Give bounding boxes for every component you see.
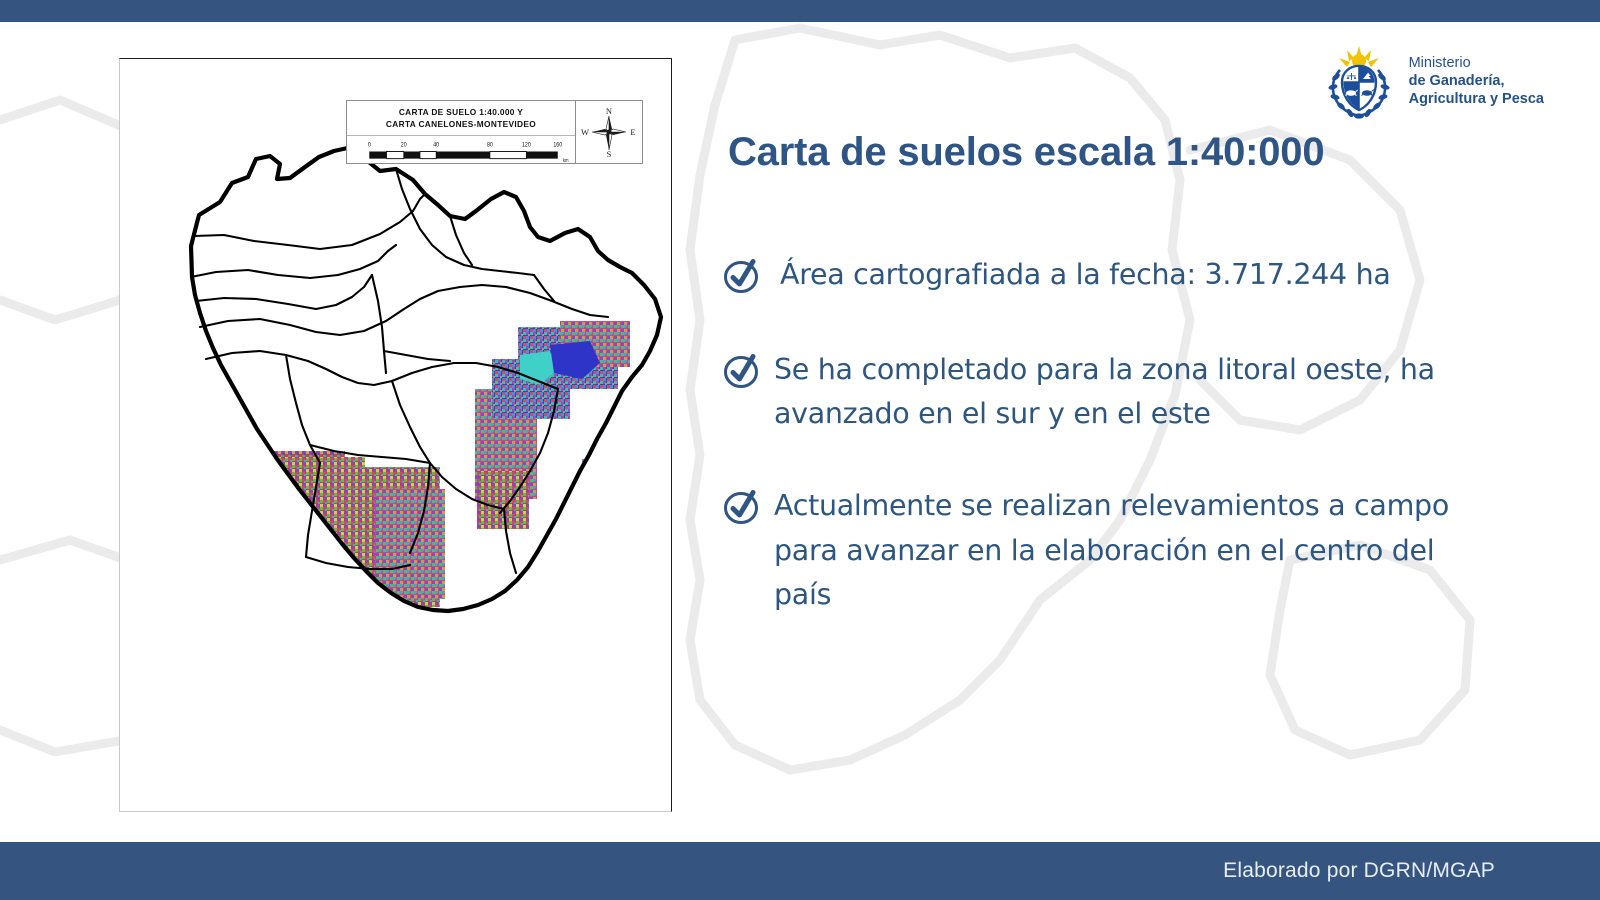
scale-tick-40: 40 [433,142,439,148]
legend-title-line-1: CARTA DE SUELO 1:40.000 Y [399,106,523,118]
check-circle-icon [722,257,760,300]
footer-credit: Elaborado por DGRN/MGAP [1223,842,1495,900]
ministry-logo-text: Ministerio de Ganadería, Agricultura y P… [1409,55,1544,108]
compass-west-label: W [581,127,589,137]
scale-tick-20: 20 [401,142,407,148]
ministry-logo: Ministerio de Ganadería, Agricultura y P… [1321,44,1544,120]
scale-tick-80: 80 [487,142,493,148]
uruguay-coat-of-arms-icon [1321,44,1397,120]
legend-right-column: N S E W [576,101,642,163]
compass-east-label: E [630,127,635,137]
legend-left-column: CARTA DE SUELO 1:40.000 Y CARTA CANELONE… [347,101,576,163]
compass-north-label: N [606,106,612,116]
check-circle-icon [722,488,760,531]
scale-tick-0: 0 [368,142,371,148]
ministry-name-line-1: Ministerio [1409,55,1544,73]
scale-tick-160: 160 [553,142,562,148]
compass-south-label: S [607,149,612,159]
bullet-item: Se ha completado para la zona litoral oe… [722,348,1512,436]
scale-bar-graphic [369,151,557,158]
bullet-text: Actualmente se realizan relevamientos a … [774,484,1494,617]
legend-title: CARTA DE SUELO 1:40.000 Y CARTA CANELONE… [347,101,575,136]
bullet-item: Actualmente se realizan relevamientos a … [722,484,1512,617]
check-circle-icon [722,352,760,395]
bullet-text: Se ha completado para la zona litoral oe… [774,348,1494,436]
compass-rose-icon: N S E W [580,103,638,161]
ministry-name-line-3: Agricultura y Pesca [1409,91,1544,109]
legend-title-line-2: CARTA CANELONES-MONTEVIDEO [386,118,536,130]
scale-tick-120: 120 [522,142,531,148]
bullet-text: Área cartografiada a la fecha: 3.717.244… [780,253,1391,297]
scale-unit-label: km [563,158,569,163]
content-column: Carta de suelos escala 1:40:000 Área car… [722,130,1512,665]
map-panel: CARTA DE SUELO 1:40.000 Y CARTA CANELONE… [119,58,672,812]
uruguay-soil-map [120,59,671,811]
map-legend-box: CARTA DE SUELO 1:40.000 Y CARTA CANELONE… [346,100,643,164]
bullet-item: Área cartografiada a la fecha: 3.717.244… [722,253,1512,300]
page-title: Carta de suelos escala 1:40:000 [728,130,1512,175]
ministry-name-line-2: de Ganadería, [1409,73,1544,91]
scale-bar: 0 20 40 80 120 160 [347,136,575,169]
top-brand-bar [0,0,1600,22]
